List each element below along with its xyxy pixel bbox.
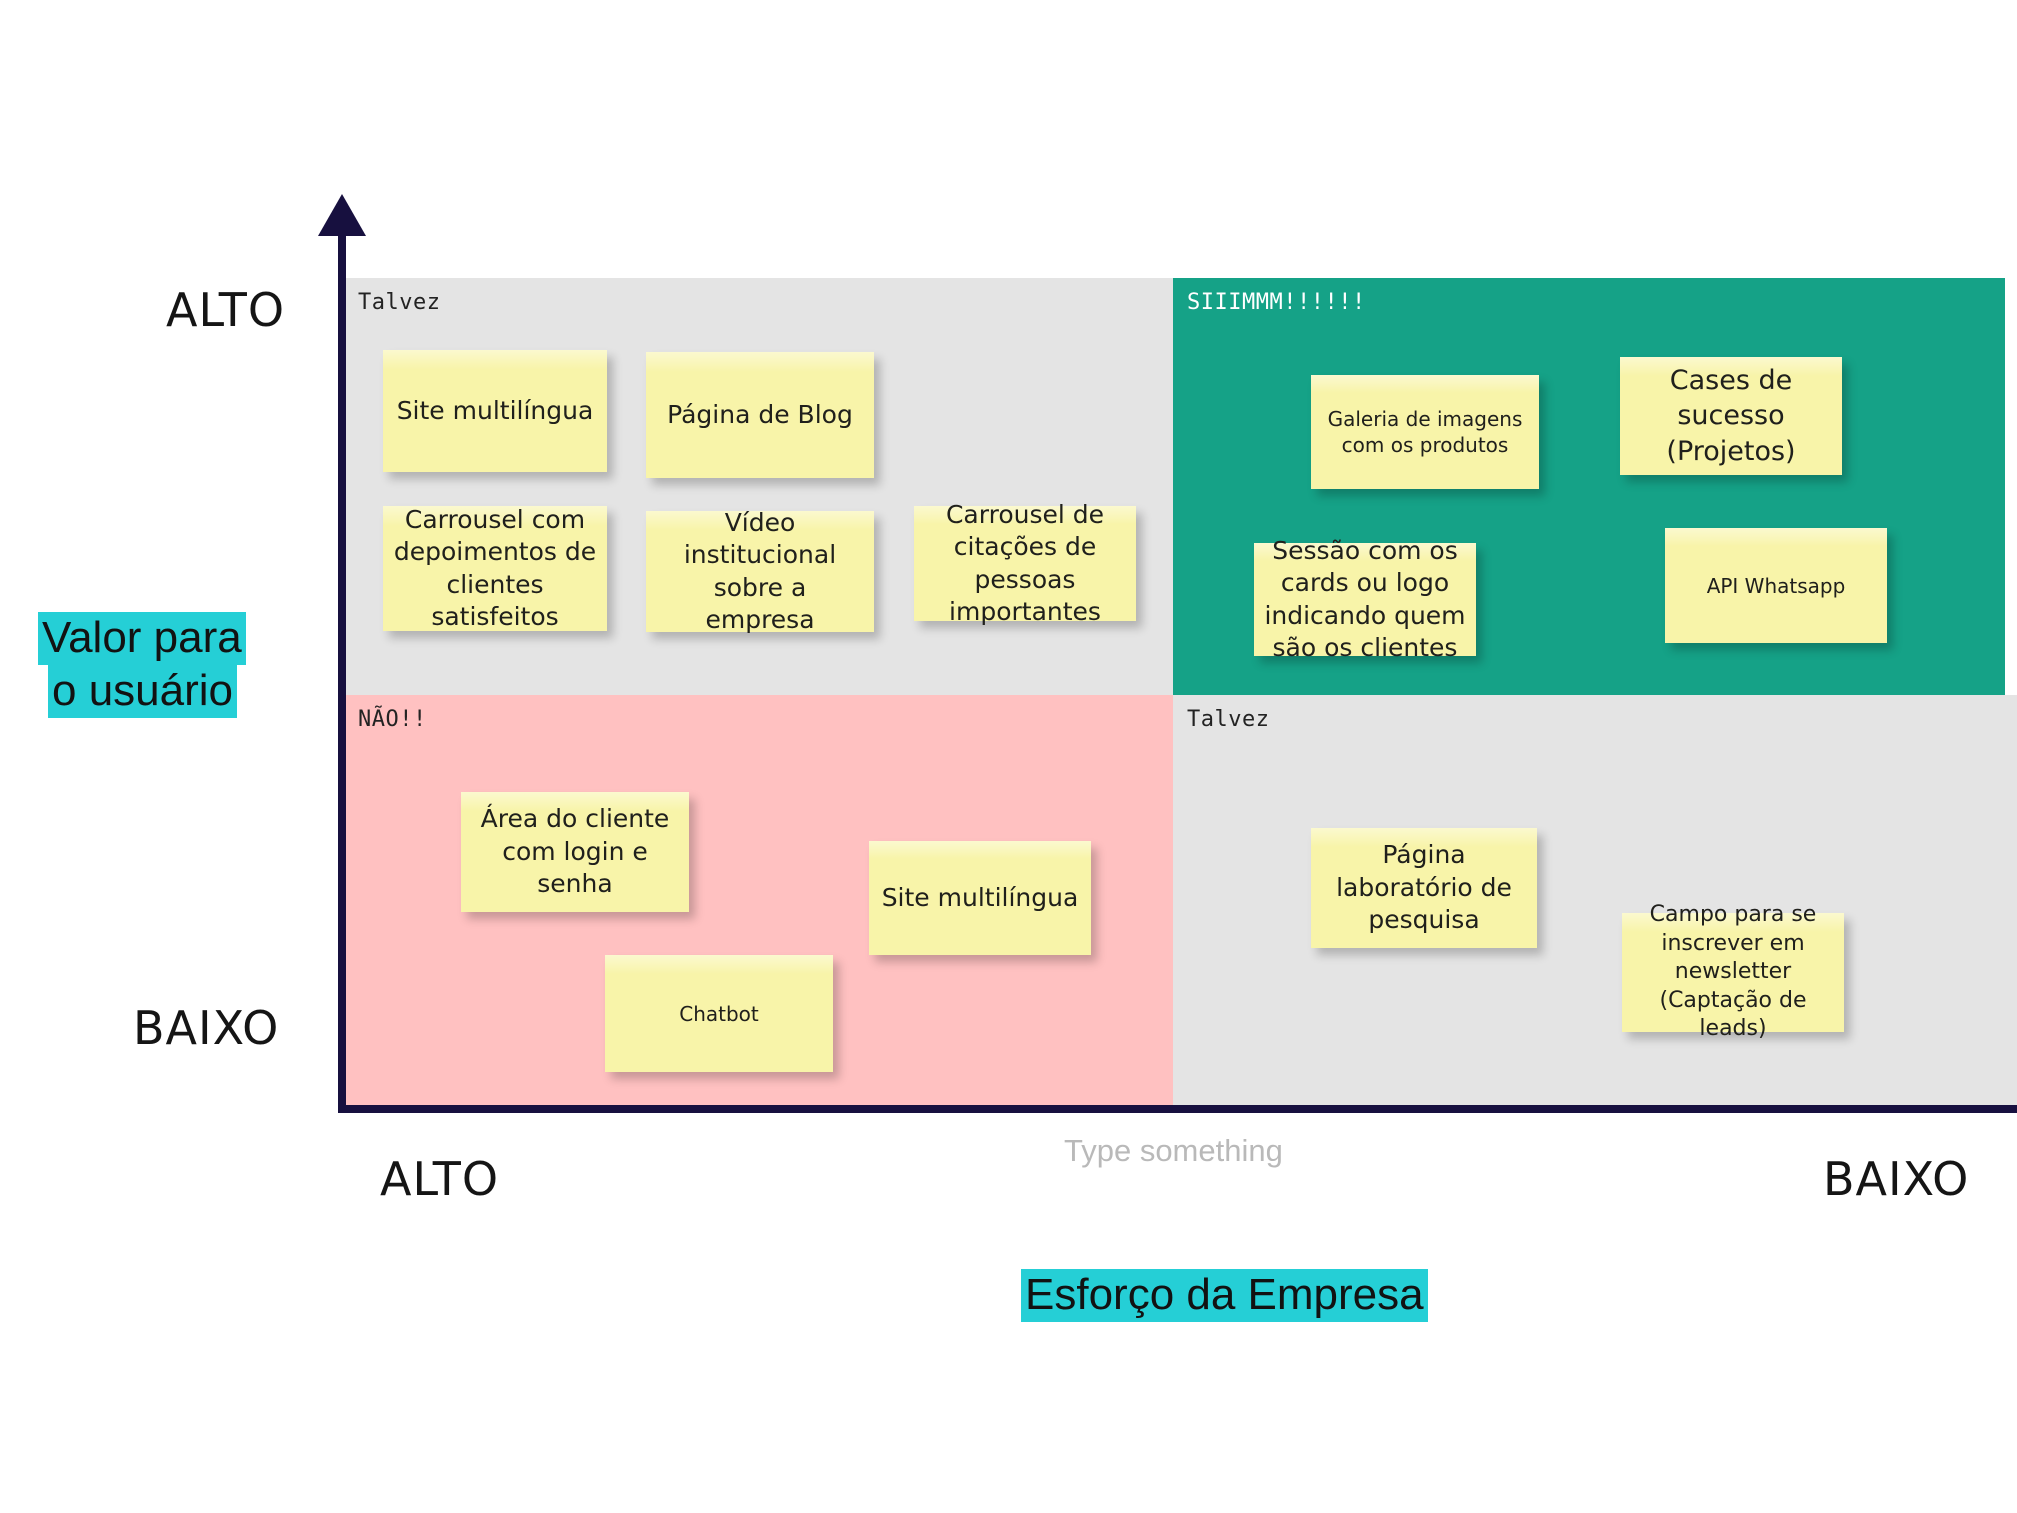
quadrant-top-right-label: SIIIMMM!!!!!! [1187,290,1366,315]
sticky-note-text: Site multilíngua [397,395,594,428]
impact-effort-matrix-board: Talvez SIIIMMM!!!!!! NÃO!! Talvez Site m… [0,0,2017,1513]
sticky-note-text: Área do cliente com login e senha [471,803,679,901]
sticky-note[interactable]: Campo para se inscrever em newsletter (C… [1622,913,1844,1032]
sticky-note[interactable]: Sessão com os cards ou logo indicando qu… [1254,543,1476,656]
sticky-note[interactable]: Site multilíngua [383,350,607,472]
sticky-note-text: Página laboratório de pesquisa [1321,839,1527,937]
quadrant-bottom-left-label: NÃO!! [358,707,427,732]
sticky-note[interactable]: Galeria de imagens com os produtos [1311,375,1539,489]
sticky-note-text: API Whatsapp [1707,573,1846,599]
sticky-note-text: Vídeo institucional sobre a empresa [656,507,864,637]
sticky-note[interactable]: Vídeo institucional sobre a empresa [646,511,874,632]
y-axis-title: Valor para o usuário [38,612,246,718]
quadrant-bottom-right-label: Talvez [1187,707,1269,732]
sticky-note-text: Carrousel com depoimentos de clientes sa… [393,504,597,634]
x-axis-line [338,1105,2017,1113]
y-axis-title-line1: Valor para [38,612,246,665]
sticky-note-text: Carrousel de citações de pessoas importa… [924,499,1126,629]
y-axis-arrow-icon [318,194,366,236]
x-axis-title-text: Esforço da Empresa [1021,1269,1428,1322]
x-axis-scale-high: ALTO [380,1152,499,1206]
type-something-placeholder[interactable]: Type something [1064,1133,1283,1169]
sticky-note-text: Cases de sucesso (Projetos) [1630,363,1832,468]
y-axis-scale-low: BAIXO [133,1001,279,1055]
quadrant-bottom-right[interactable]: Talvez [1173,695,2017,1105]
sticky-note[interactable]: Carrousel de citações de pessoas importa… [914,506,1136,621]
sticky-note[interactable]: Site multilíngua [869,841,1091,955]
sticky-note-text: Campo para se inscrever em newsletter (C… [1632,901,1834,1044]
sticky-note-text: Site multilíngua [882,882,1079,915]
sticky-note[interactable]: API Whatsapp [1665,528,1887,643]
sticky-note[interactable]: Chatbot [605,955,833,1072]
sticky-note-text: Sessão com os cards ou logo indicando qu… [1264,535,1466,665]
sticky-note[interactable]: Área do cliente com login e senha [461,792,689,912]
sticky-note[interactable]: Página laboratório de pesquisa [1311,828,1537,948]
sticky-note[interactable]: Carrousel com depoimentos de clientes sa… [383,506,607,631]
quadrant-top-left-label: Talvez [358,290,440,315]
sticky-note[interactable]: Cases de sucesso (Projetos) [1620,357,1842,475]
sticky-note-text: Chatbot [679,1001,759,1027]
x-axis-scale-low: BAIXO [1823,1152,1969,1206]
y-axis-scale-high: ALTO [166,283,285,337]
sticky-note[interactable]: Página de Blog [646,352,874,478]
y-axis-title-line2: o usuário [48,665,237,718]
y-axis-line [338,232,346,1112]
x-axis-title: Esforço da Empresa [1021,1269,1428,1322]
sticky-note-text: Página de Blog [667,399,853,432]
sticky-note-text: Galeria de imagens com os produtos [1321,406,1529,458]
